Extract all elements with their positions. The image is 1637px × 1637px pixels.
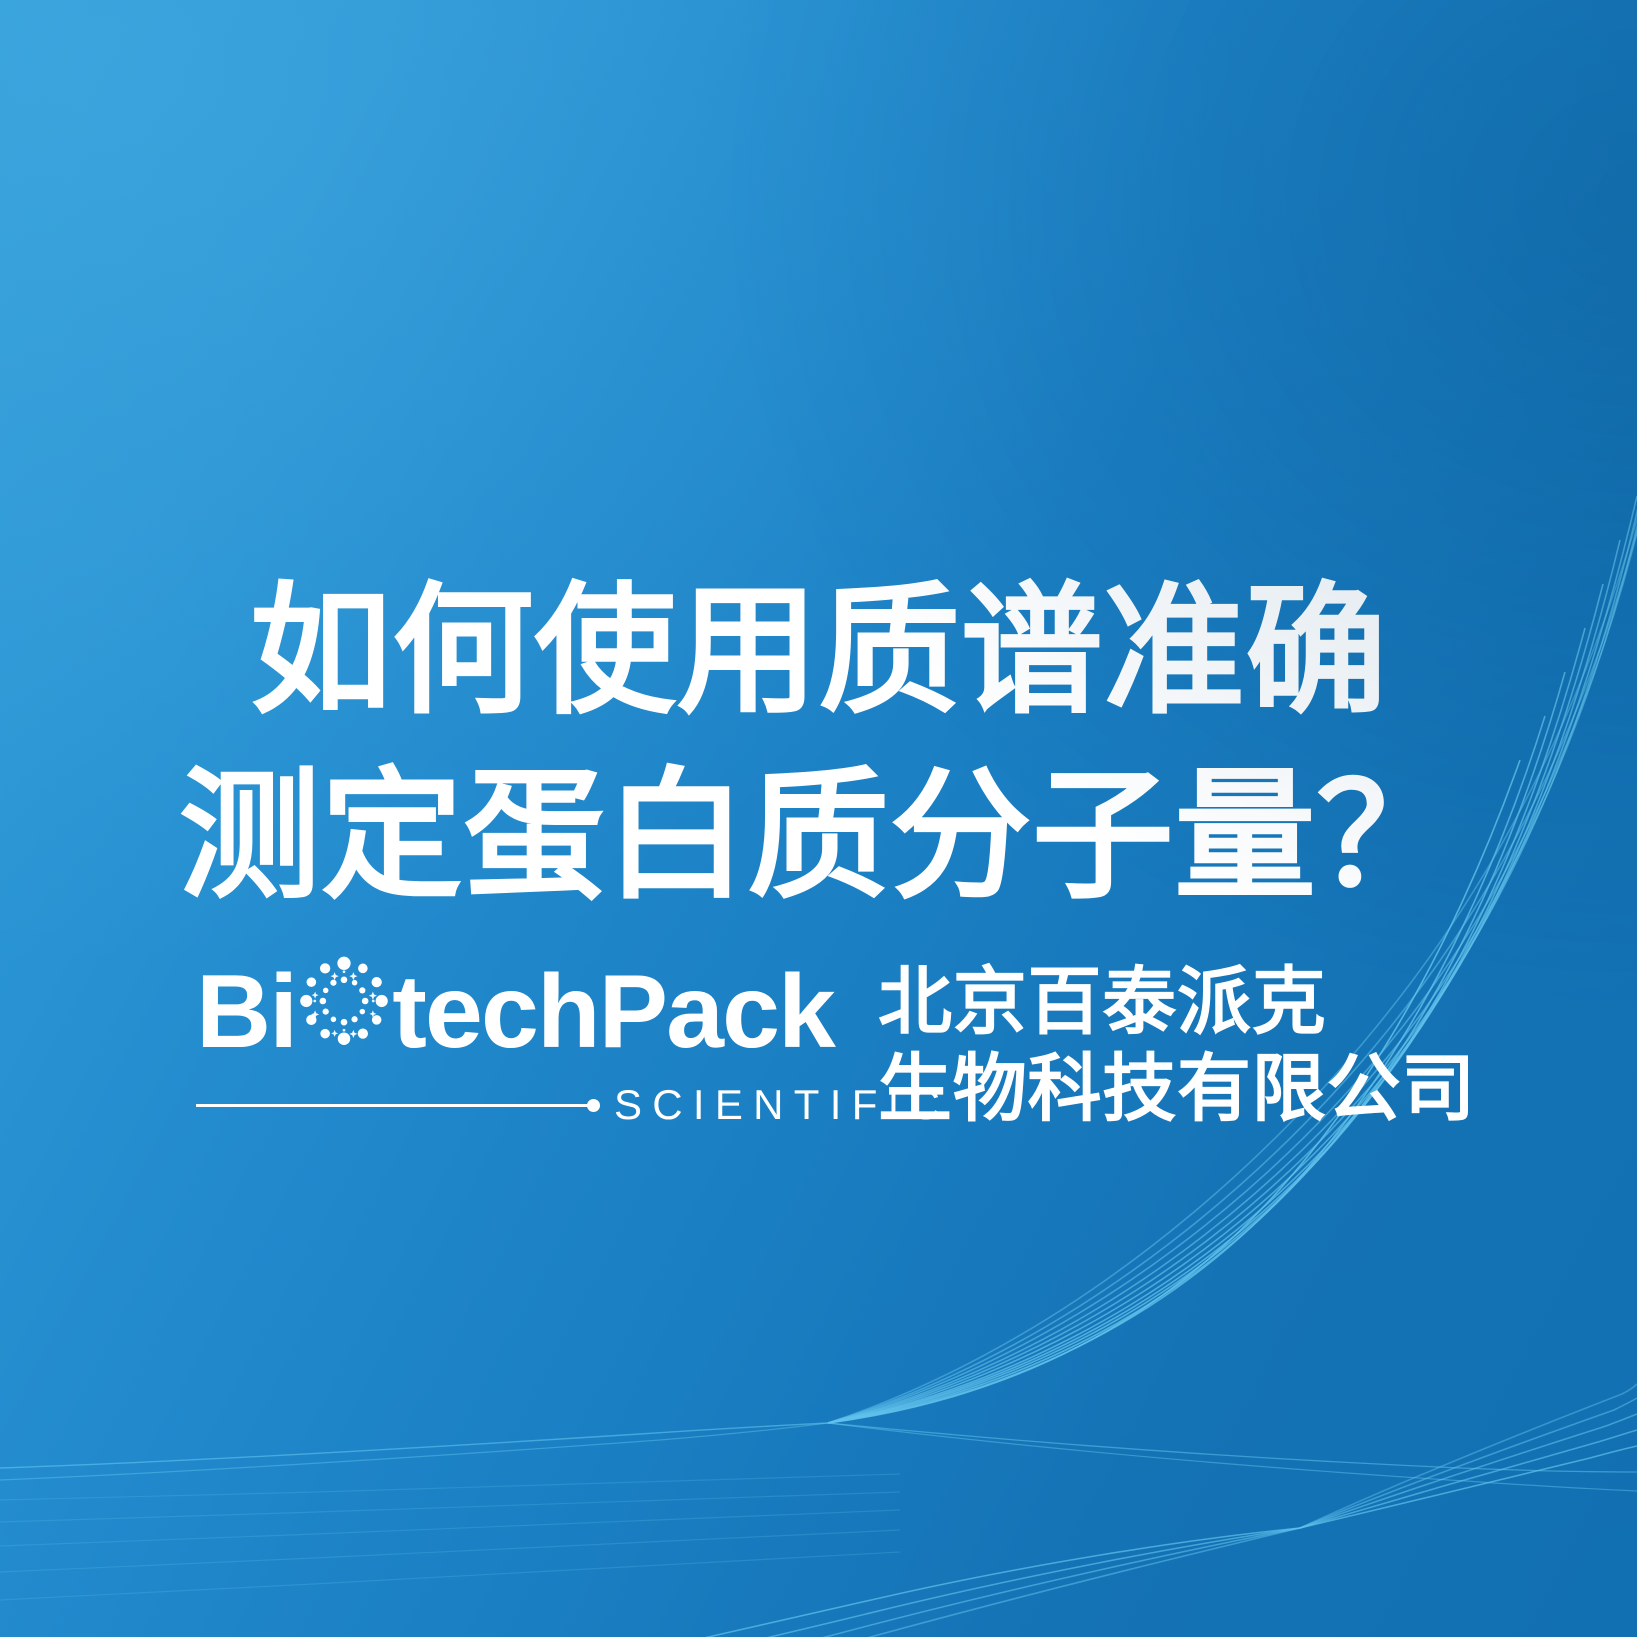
company-name-line-2: 生物科技有限公司 xyxy=(878,1046,1476,1133)
brand-tagline-row: SCIENTIFIC xyxy=(196,1085,844,1125)
logo-latin-group: Bi xyxy=(196,955,844,1125)
poster-canvas: 如何使用质谱准确 测定蛋白质分子量？ Bi xyxy=(0,0,1637,1637)
tagline-dot-icon xyxy=(587,1099,600,1112)
headline-line-1: 如何使用质谱准确 xyxy=(0,560,1637,745)
brand-logo-lockup: Bi xyxy=(196,955,1476,1132)
headline-line-2: 测定蛋白质分子量？ xyxy=(0,745,1637,930)
company-name-line-1: 北京百泰派克 xyxy=(878,959,1476,1046)
wordmark-suffix: techPack xyxy=(392,960,834,1064)
company-name-chinese: 北京百泰派克 生物科技有限公司 xyxy=(878,955,1476,1132)
poster-content: 如何使用质谱准确 测定蛋白质分子量？ Bi xyxy=(0,0,1637,1637)
molecule-ring-icon xyxy=(298,955,390,1047)
brand-tagline: SCIENTIFIC xyxy=(614,1084,950,1126)
tagline-rule xyxy=(196,1104,588,1107)
brand-wordmark: Bi xyxy=(196,955,844,1067)
wordmark-prefix: Bi xyxy=(196,960,296,1064)
page-title: 如何使用质谱准确 测定蛋白质分子量？ xyxy=(0,560,1637,929)
